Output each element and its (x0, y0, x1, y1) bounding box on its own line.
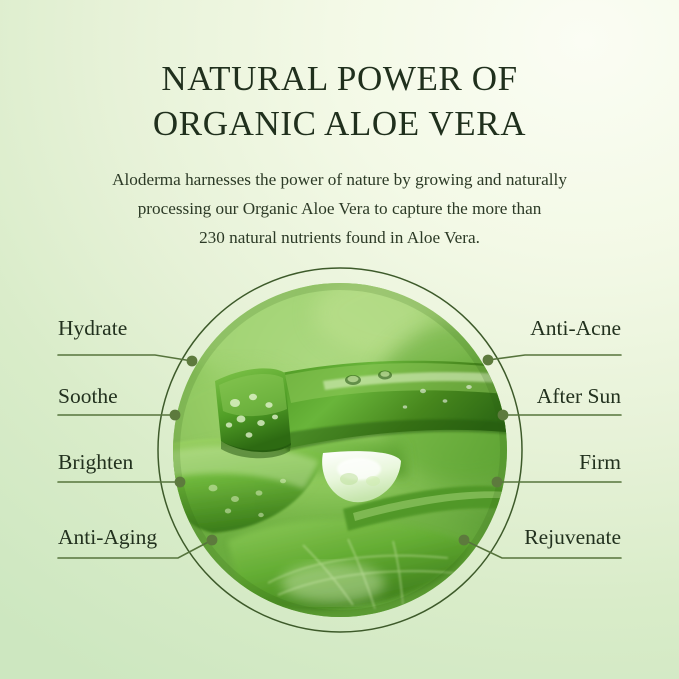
aloe-vera-infographic-poster: NATURAL POWER OF ORGANIC ALOE VERA Alode… (0, 0, 679, 679)
benefit-label-hydrate[interactable]: Hydrate (58, 316, 127, 340)
dot-firm (492, 477, 503, 488)
dot-brighten (175, 477, 186, 488)
dot-after-sun (498, 410, 509, 421)
benefit-label-firm[interactable]: Firm (579, 450, 621, 474)
outer-ring-circle (158, 268, 522, 632)
connector-hydrate (58, 355, 192, 361)
dot-hydrate (187, 356, 198, 367)
ring-dots (170, 355, 509, 546)
benefit-label-anti-aging[interactable]: Anti-Aging (58, 525, 157, 549)
benefit-label-brighten[interactable]: Brighten (58, 450, 133, 474)
benefit-label-soothe[interactable]: Soothe (58, 384, 118, 408)
benefit-label-rejuvenate[interactable]: Rejuvenate (524, 525, 621, 549)
benefit-label-anti-acne[interactable]: Anti-Acne (530, 316, 621, 340)
dot-anti-aging (207, 535, 218, 546)
dot-soothe (170, 410, 181, 421)
connector-anti-acne (488, 355, 621, 360)
benefit-label-after-sun[interactable]: After Sun (537, 384, 621, 408)
dot-rejuvenate (459, 535, 470, 546)
dot-anti-acne (483, 355, 494, 366)
